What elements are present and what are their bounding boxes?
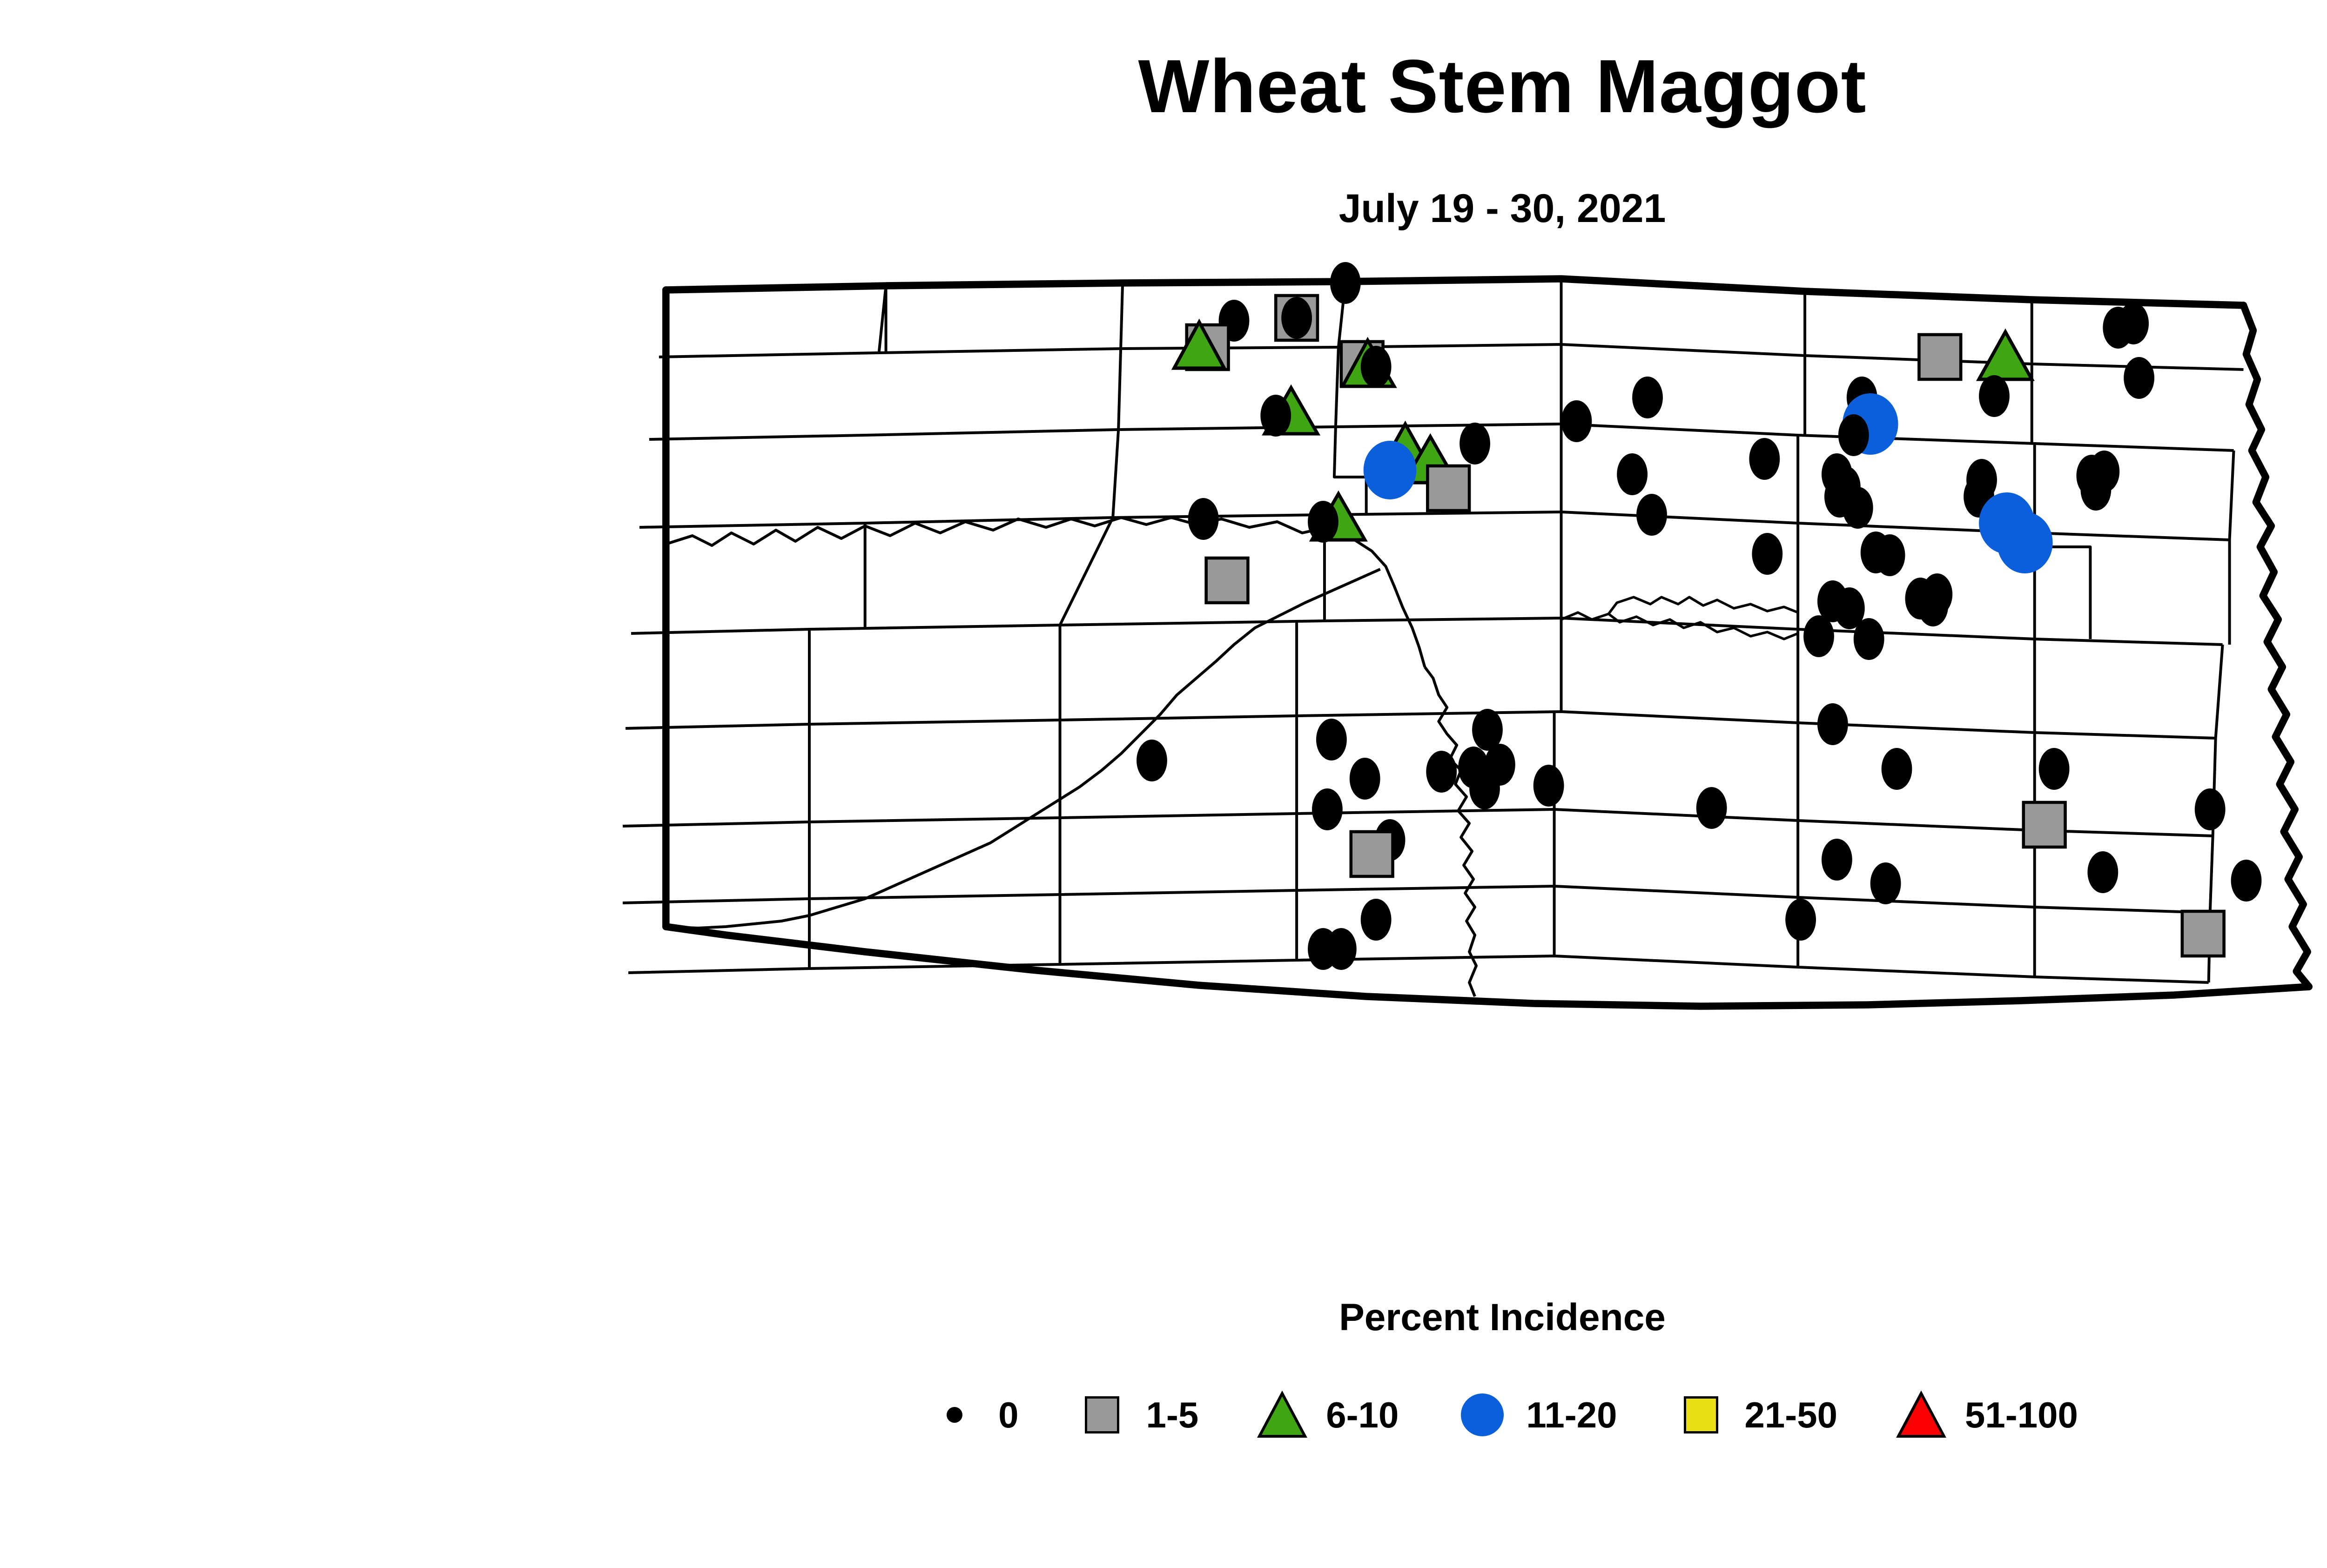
- marker-zero[interactable]: [1875, 534, 1905, 576]
- marker-zero[interactable]: [1854, 618, 1884, 660]
- marker-zero[interactable]: [1752, 533, 1782, 575]
- marker-zero[interactable]: [1137, 740, 1167, 781]
- legend-item-11-20[interactable]: 11-20: [1454, 1387, 1617, 1443]
- marker-zero[interactable]: [1361, 899, 1392, 941]
- marker-low[interactable]: [1351, 832, 1393, 876]
- marker-zero[interactable]: [1749, 438, 1780, 480]
- green-triangle-icon: [1254, 1387, 1310, 1443]
- marker-zero[interactable]: [2087, 851, 2118, 893]
- marker-zero[interactable]: [1696, 787, 1727, 829]
- marker-zero[interactable]: [1817, 703, 1848, 745]
- marker-zero[interactable]: [1917, 585, 1948, 626]
- marker-low[interactable]: [2024, 802, 2065, 847]
- black-dot-icon: [927, 1387, 982, 1443]
- legend-label-6-10: 6-10: [1326, 1397, 1399, 1433]
- legend-item-21-50[interactable]: 21-50: [1673, 1387, 1838, 1443]
- marker-moderate[interactable]: [1979, 332, 2032, 379]
- marker-zero[interactable]: [1843, 487, 1873, 529]
- marker-zero[interactable]: [1260, 395, 1291, 437]
- marker-low[interactable]: [1427, 466, 1469, 511]
- legend-heading: Percent Incidence: [0, 1299, 2327, 1337]
- marker-zero[interactable]: [2124, 357, 2154, 399]
- gray-square-icon: [1074, 1387, 1130, 1443]
- marker-zero[interactable]: [1870, 862, 1901, 904]
- marker-low[interactable]: [1919, 335, 1961, 379]
- marker-zero[interactable]: [1330, 262, 1361, 304]
- marker-low[interactable]: [2182, 911, 2224, 956]
- marker-zero[interactable]: [1636, 494, 1667, 536]
- legend-item-6-10[interactable]: 6-10: [1254, 1387, 1399, 1443]
- marker-zero[interactable]: [1617, 453, 1648, 495]
- legend-label-1-5: 1-5: [1146, 1397, 1198, 1433]
- map-page: Wheat Stem Maggot July 19 - 30, 2021: [0, 0, 2327, 1568]
- marker-zero[interactable]: [1426, 751, 1457, 793]
- marker-high[interactable]: [1997, 512, 2053, 573]
- marker-zero[interactable]: [2195, 788, 2226, 830]
- marker-zero[interactable]: [1326, 928, 1357, 970]
- legend-label-21-50: 21-50: [1745, 1397, 1838, 1433]
- page-subtitle: July 19 - 30, 2021: [0, 188, 2327, 229]
- legend-label-11-20: 11-20: [1526, 1397, 1617, 1433]
- legend-item-51-100[interactable]: 51-100: [1893, 1387, 2078, 1443]
- data-markers[interactable]: [1137, 262, 2261, 970]
- legend-label-0: 0: [998, 1397, 1018, 1433]
- legend-label-51-100: 51-100: [1965, 1397, 2078, 1433]
- marker-zero[interactable]: [2039, 748, 2070, 790]
- legend-item-1-5[interactable]: 1-5: [1074, 1387, 1198, 1443]
- marker-zero[interactable]: [2080, 469, 2111, 511]
- marker-zero[interactable]: [1632, 377, 1663, 418]
- marker-zero[interactable]: [1561, 400, 1592, 442]
- marker-zero[interactable]: [1188, 498, 1219, 540]
- missouri-river: [666, 518, 1476, 996]
- legend-item-0[interactable]: 0: [927, 1387, 1018, 1443]
- marker-zero[interactable]: [1316, 719, 1347, 760]
- marker-high[interactable]: [1364, 441, 1417, 499]
- marker-zero[interactable]: [1533, 765, 1564, 807]
- marker-zero[interactable]: [1785, 899, 1816, 941]
- marker-zero[interactable]: [1459, 423, 1490, 464]
- marker-zero[interactable]: [2118, 303, 2149, 344]
- marker-zero[interactable]: [1822, 839, 1852, 881]
- red-triangle-icon: [1893, 1387, 1949, 1443]
- legend: 0 1-5 6-10 11-20 21-: [0, 1387, 2327, 1443]
- marker-zero[interactable]: [1312, 788, 1343, 830]
- marker-zero[interactable]: [1469, 767, 1500, 809]
- yellow-square-icon: [1673, 1387, 1729, 1443]
- marker-zero[interactable]: [1361, 346, 1392, 388]
- devils-lake: [1561, 597, 1798, 639]
- blue-circle-icon: [1454, 1387, 1510, 1443]
- marker-zero[interactable]: [2231, 860, 2262, 902]
- marker-zero[interactable]: [1281, 297, 1312, 339]
- marker-zero[interactable]: [1882, 748, 1912, 790]
- marker-zero[interactable]: [1308, 501, 1338, 543]
- marker-zero[interactable]: [1979, 375, 2010, 417]
- map-svg[interactable]: [642, 268, 2327, 1273]
- marker-zero[interactable]: [1350, 758, 1380, 800]
- marker-low[interactable]: [1206, 558, 1248, 603]
- marker-zero[interactable]: [1803, 615, 1834, 657]
- page-title: Wheat Stem Maggot: [0, 49, 2327, 124]
- marker-zero[interactable]: [1838, 414, 1869, 456]
- north-dakota-map[interactable]: [642, 268, 2327, 1273]
